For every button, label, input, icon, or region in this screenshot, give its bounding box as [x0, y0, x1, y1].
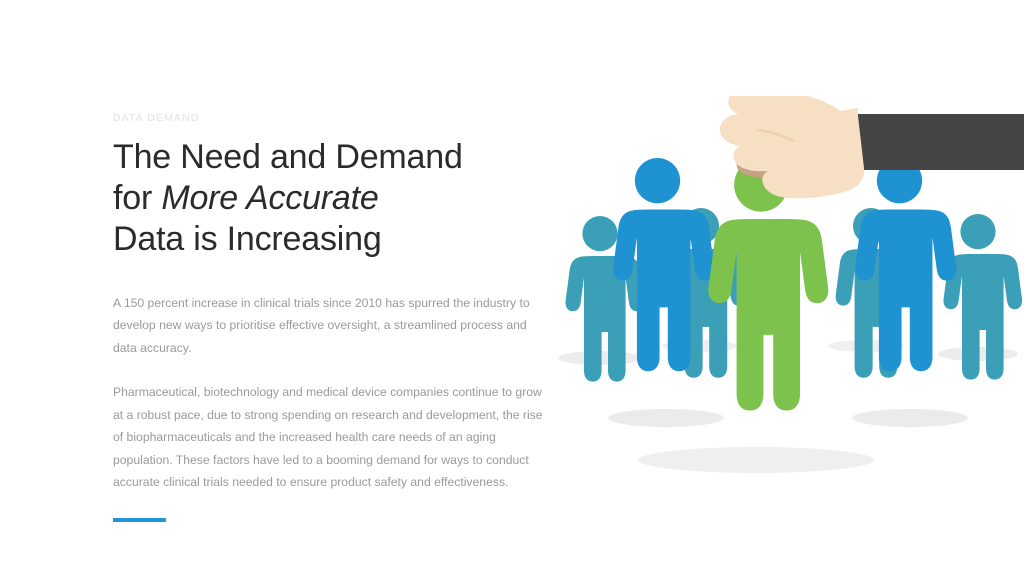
body-paragraph-1: A 150 percent increase in clinical trial…	[113, 292, 538, 360]
headline-line-2-emphasis: More Accurate	[161, 179, 378, 217]
sleeve	[854, 114, 1024, 170]
body-paragraph-2: Pharmaceutical, biotechnology and medica…	[113, 381, 543, 494]
text-column: DATA DEMAND The Need and Demand for More…	[113, 112, 543, 494]
headline-line-3: Data is Increasing	[113, 220, 382, 258]
eyebrow-label: DATA DEMAND	[113, 112, 543, 125]
accent-rule	[113, 518, 166, 522]
slide-root: DATA DEMAND The Need and Demand for More…	[0, 0, 1024, 576]
headline-line-2-prefix: for	[113, 179, 161, 217]
illustration-hand-selecting-person	[548, 96, 1024, 496]
headline-line-1: The Need and Demand	[113, 138, 463, 176]
page-title: The Need and Demand for More Accurate Da…	[113, 137, 543, 260]
